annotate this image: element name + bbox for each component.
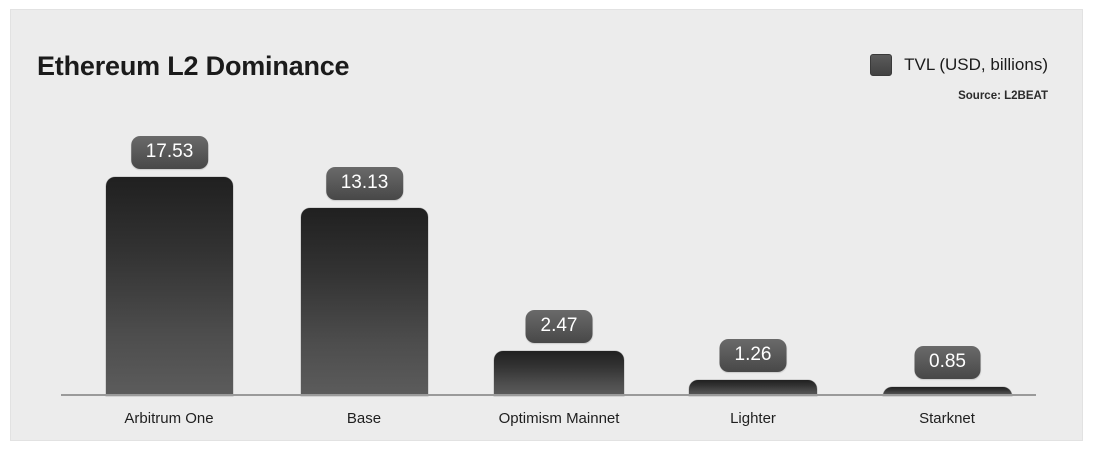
bar-base[interactable] (301, 208, 428, 396)
bar-value-starknet: 0.85 (914, 346, 981, 379)
bar-group-starknet: 0.85 (883, 120, 1012, 396)
x-axis-label-optimism-mainnet: Optimism Mainnet (499, 410, 620, 427)
bar-value-base: 13.13 (326, 167, 404, 200)
chart-legend: TVL (USD, billions) (870, 54, 1048, 76)
bar-group-base: 13.13 (301, 120, 428, 396)
chart-title: Ethereum L2 Dominance (37, 51, 349, 82)
x-axis-label-starknet: Starknet (919, 410, 975, 427)
x-axis-label-arbitrum-one: Arbitrum One (124, 410, 213, 427)
bar-group-arbitrum-one: 17.53 (106, 120, 233, 396)
source-note: Source: L2BEAT (958, 90, 1048, 102)
bar-value-arbitrum-one: 17.53 (131, 136, 209, 169)
bar-arbitrum-one[interactable] (106, 177, 233, 396)
legend-label-tvl: TVL (USD, billions) (904, 55, 1048, 75)
bar-group-lighter: 1.26 (689, 120, 817, 396)
bar-value-lighter: 1.26 (720, 339, 787, 372)
legend-color-swatch-icon (870, 54, 892, 76)
x-axis-line (61, 394, 1036, 396)
chart-card: Ethereum L2 Dominance TVL (USD, billions… (10, 9, 1083, 441)
bar-value-optimism-mainnet: 2.47 (526, 310, 593, 343)
x-axis-label-base: Base (347, 410, 381, 427)
x-axis-label-lighter: Lighter (730, 410, 776, 427)
bar-group-optimism-mainnet: 2.47 (494, 120, 624, 396)
plot-area: 17.53 13.13 2.47 1.26 0.85 (61, 120, 1036, 396)
bar-optimism-mainnet[interactable] (494, 351, 624, 396)
